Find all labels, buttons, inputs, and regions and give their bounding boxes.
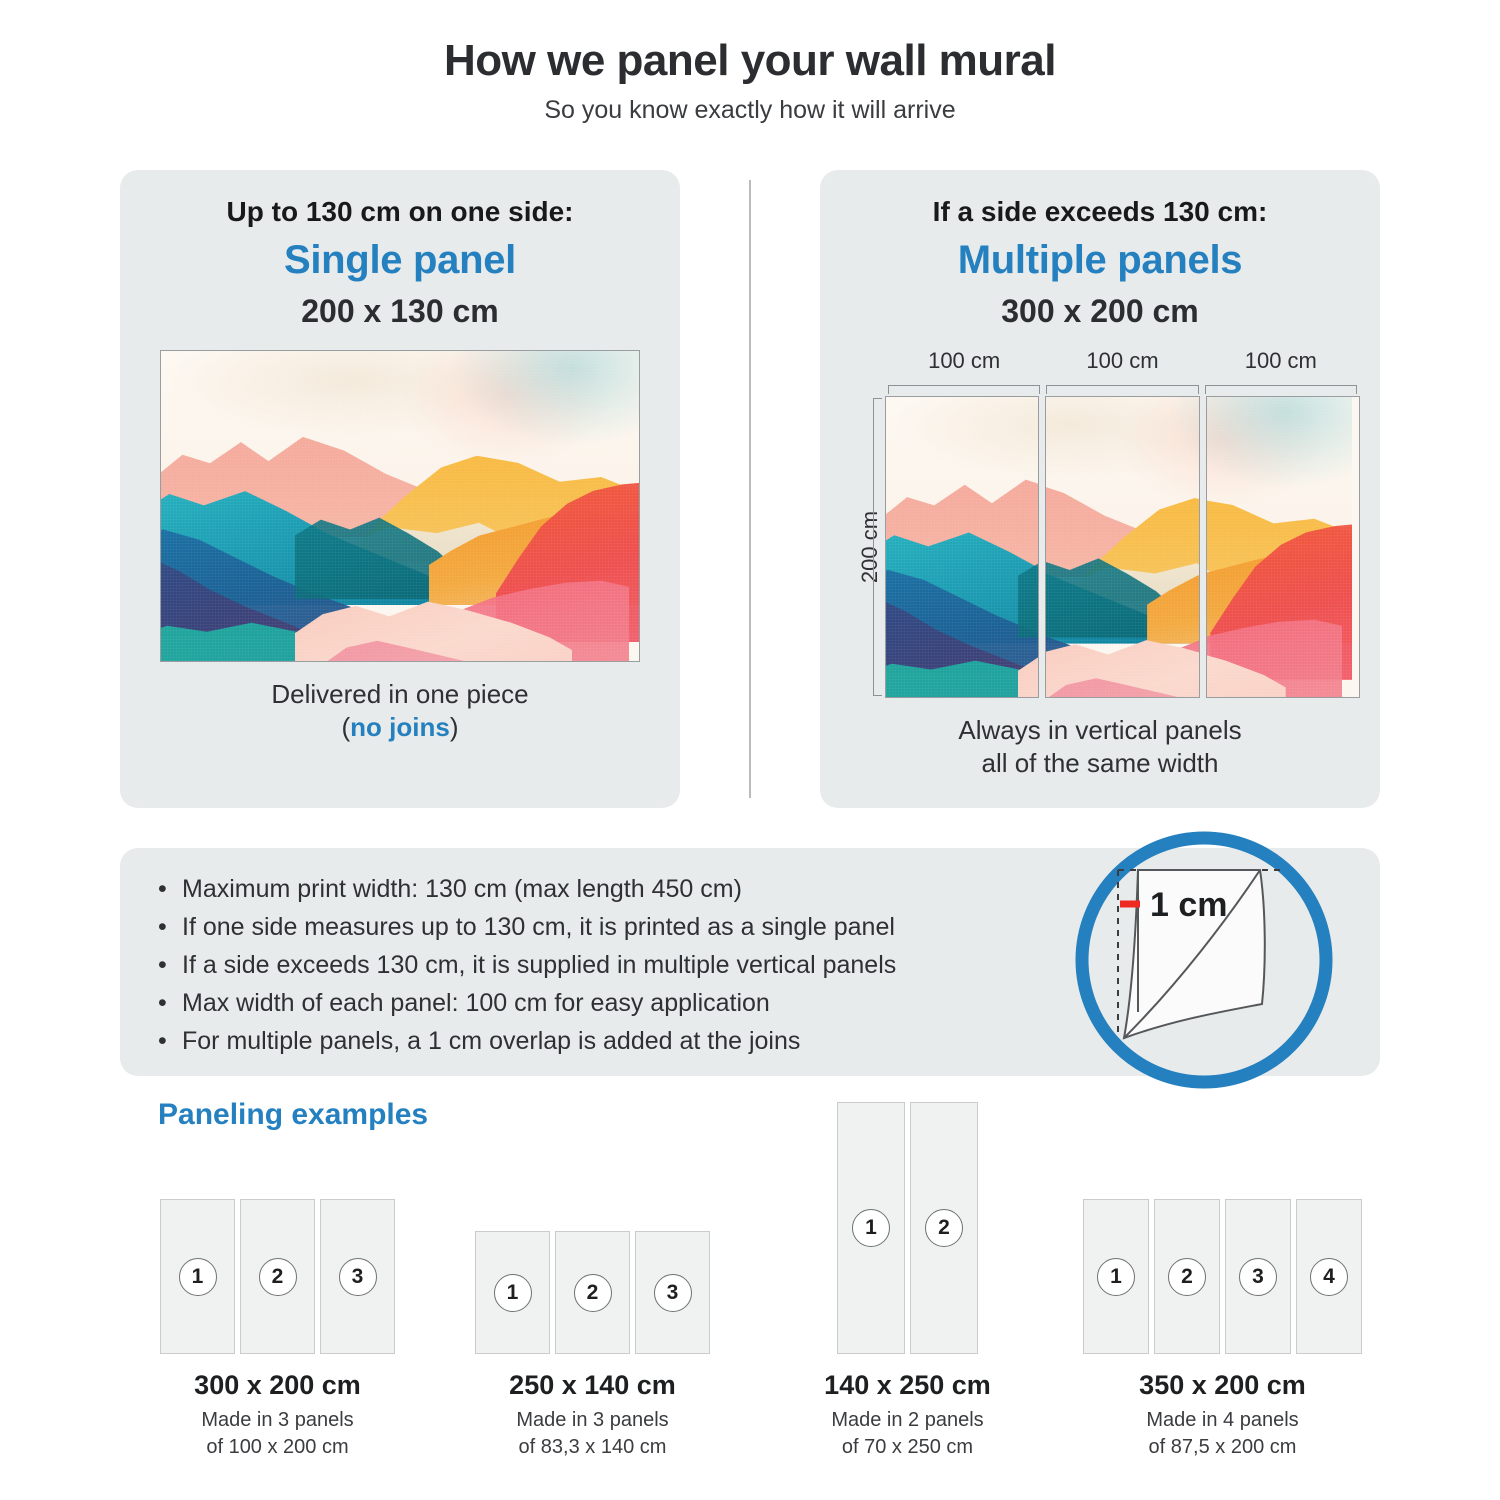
multiple-panels-card: If a side exceeds 130 cm: Multiple panel… (820, 170, 1380, 808)
example-size-label: 350 x 200 cm (1139, 1370, 1306, 1401)
example-size-label: 300 x 200 cm (194, 1370, 361, 1401)
panel-width-dimension: 100 cm (1043, 348, 1201, 394)
example-panel: 3 (635, 1231, 710, 1354)
panel-width-dimension: 100 cm (1202, 348, 1360, 394)
list-item: If a side exceeds 130 cm, it is supplied… (156, 946, 896, 984)
example-panels: 1 2 3 (160, 1199, 395, 1354)
example-description: Made in 4 panels of 87,5 x 200 cm (1146, 1407, 1298, 1460)
single-panel-card: Up to 130 cm on one side: Single panel 2… (120, 170, 680, 808)
panel-width-dimensions: 100 cm 100 cm 100 cm (885, 348, 1360, 394)
multiple-panels-caption: Always in vertical panels all of the sam… (958, 714, 1241, 781)
panel-number-badge: 3 (1239, 1258, 1277, 1296)
panel-number-badge: 3 (339, 1258, 377, 1296)
multiple-panels-size: 300 x 200 cm (1001, 293, 1199, 330)
example-desc-line1: Made in 4 panels (1146, 1407, 1298, 1433)
example-panel: 3 (1225, 1199, 1291, 1354)
panel-number-badge: 4 (1310, 1258, 1348, 1296)
single-panel-kicker: Up to 130 cm on one side: (227, 196, 574, 228)
example-panel: 2 (1154, 1199, 1220, 1354)
paneled-mural-diagram: 100 cm 100 cm 100 cm 200 cm (840, 348, 1360, 698)
mural-artwork-single (160, 350, 640, 662)
panel-width-label-3: 100 cm (1202, 348, 1360, 374)
mural-panel-3 (1206, 396, 1360, 698)
example-desc-line2: of 100 x 200 cm (201, 1434, 353, 1460)
page-header: How we panel your wall mural So you know… (0, 0, 1500, 125)
infographic-page: How we panel your wall mural So you know… (0, 0, 1500, 1500)
list-item: If one side measures up to 130 cm, it is… (156, 908, 896, 946)
multiple-panels-caption-line1: Always in vertical panels (958, 714, 1241, 747)
example-panel: 3 (320, 1199, 395, 1354)
specifications-card: Maximum print width: 130 cm (max length … (120, 848, 1380, 1076)
multiple-panels-caption-line2: all of the same width (958, 747, 1241, 780)
single-panel-caption: Delivered in one piece (no joins) (271, 678, 528, 745)
example-1: 1 2 3 300 x 200 cm Made in 3 panels of 1… (120, 1199, 435, 1460)
panel-number-badge: 2 (1168, 1258, 1206, 1296)
vertical-dimension-bracket-icon (873, 398, 882, 696)
list-item: Max width of each panel: 100 cm for easy… (156, 984, 896, 1022)
example-desc-line2: of 70 x 250 cm (831, 1434, 983, 1460)
list-item: Maximum print width: 130 cm (max length … (156, 870, 896, 908)
example-description: Made in 3 panels of 83,3 x 140 cm (516, 1407, 668, 1460)
example-panels: 1 2 3 (475, 1231, 710, 1354)
single-panel-caption-line1: Delivered in one piece (271, 678, 528, 711)
panel-width-dimension: 100 cm (885, 348, 1043, 394)
mural-panel-1 (885, 396, 1039, 698)
example-desc-line2: of 83,3 x 140 cm (516, 1434, 668, 1460)
page-subtitle: So you know exactly how it will arrive (0, 96, 1500, 125)
dimension-bracket-icon (1205, 385, 1357, 394)
example-panel: 1 (1083, 1199, 1149, 1354)
panel-width-label-1: 100 cm (885, 348, 1043, 374)
single-panel-size: 200 x 130 cm (301, 293, 499, 330)
example-panel: 1 (475, 1231, 550, 1354)
example-desc-line1: Made in 3 panels (201, 1407, 353, 1433)
example-panel: 2 (910, 1102, 978, 1354)
example-desc-line1: Made in 3 panels (516, 1407, 668, 1433)
specifications-list: Maximum print width: 130 cm (max length … (156, 870, 896, 1060)
no-joins-accent: no joins (350, 712, 450, 742)
panel-number-badge: 2 (574, 1274, 612, 1312)
panel-width-label-2: 100 cm (1043, 348, 1201, 374)
multiple-panels-headline: Multiple panels (958, 238, 1242, 283)
example-3: 1 2 140 x 250 cm Made in 2 panels of 70 … (750, 1102, 1065, 1460)
example-desc-line2: of 87,5 x 200 cm (1146, 1434, 1298, 1460)
mural-artwork-slice (886, 396, 1039, 698)
multiple-panels-kicker: If a side exceeds 130 cm: (933, 196, 1268, 228)
single-panel-caption-line2: (no joins) (271, 711, 528, 744)
example-panel: 2 (555, 1231, 630, 1354)
example-panels: 1 2 (837, 1102, 978, 1354)
panel-number-badge: 2 (925, 1209, 963, 1247)
example-panel: 2 (240, 1199, 315, 1354)
mural-artwork-slice (1206, 396, 1352, 698)
example-panel: 4 (1296, 1199, 1362, 1354)
page-title: How we panel your wall mural (0, 36, 1500, 86)
single-panel-headline: Single panel (284, 238, 516, 283)
paneling-examples-row: 1 2 3 300 x 200 cm Made in 3 panels of 1… (120, 1120, 1380, 1460)
example-4: 1 2 3 4 350 x 200 cm Made in 4 panels of… (1065, 1199, 1380, 1460)
mural-panel-2 (1045, 396, 1199, 698)
example-2: 1 2 3 250 x 140 cm Made in 3 panels of 8… (435, 1231, 750, 1460)
overlap-detail-icon: 1 cm (1070, 826, 1338, 1094)
panel-number-badge: 2 (259, 1258, 297, 1296)
example-desc-line1: Made in 2 panels (831, 1407, 983, 1433)
panel-number-badge: 1 (179, 1258, 217, 1296)
example-panel: 1 (837, 1102, 905, 1354)
mural-artwork-slice (1045, 396, 1199, 698)
example-size-label: 140 x 250 cm (824, 1370, 991, 1401)
card-divider (749, 180, 751, 798)
example-description: Made in 3 panels of 100 x 200 cm (201, 1407, 353, 1460)
example-panel: 1 (160, 1199, 235, 1354)
example-size-label: 250 x 140 cm (509, 1370, 676, 1401)
panel-number-badge: 1 (852, 1209, 890, 1247)
overlap-label: 1 cm (1150, 886, 1228, 924)
panel-number-badge: 3 (654, 1274, 692, 1312)
list-item: For multiple panels, a 1 cm overlap is a… (156, 1022, 896, 1060)
comparison-row: Up to 130 cm on one side: Single panel 2… (120, 170, 1380, 808)
dimension-bracket-icon (888, 385, 1040, 394)
paren-close: ) (450, 712, 459, 742)
panel-number-badge: 1 (494, 1274, 532, 1312)
panel-height-dimension: 200 cm (840, 396, 885, 698)
paren-open: ( (341, 712, 350, 742)
example-panels: 1 2 3 4 (1083, 1199, 1362, 1354)
example-description: Made in 2 panels of 70 x 250 cm (831, 1407, 983, 1460)
dimension-bracket-icon (1046, 385, 1198, 394)
panel-strips (885, 396, 1360, 698)
panel-number-badge: 1 (1097, 1258, 1135, 1296)
